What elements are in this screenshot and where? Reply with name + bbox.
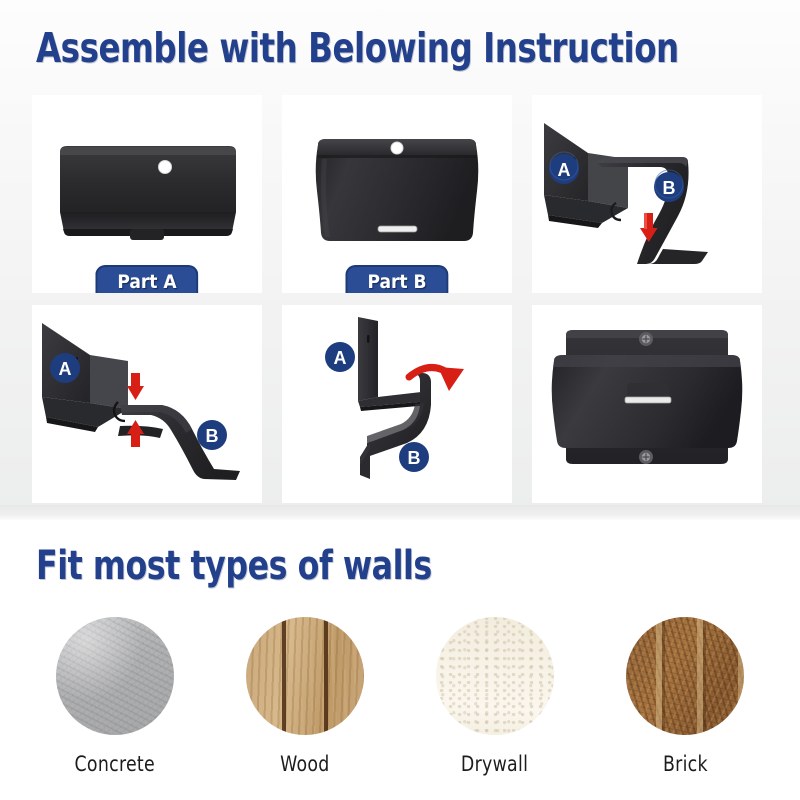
drywall-texture-swatch	[436, 617, 554, 735]
section-divider	[0, 505, 800, 521]
wall-types-section: Fit most types of walls Concrete Wood Dr…	[0, 521, 800, 800]
wall-type-label: Wood	[280, 752, 329, 776]
svg-text:B: B	[206, 426, 219, 446]
part-a-badge: Part A	[95, 265, 198, 293]
svg-text:A: A	[558, 160, 571, 180]
assembly-panel-step-3: A B	[532, 95, 762, 293]
wall-type-brick: Brick	[590, 617, 780, 776]
wall-type-label: Concrete	[75, 752, 155, 776]
step-6-illustration	[532, 305, 762, 503]
svg-text:A: A	[59, 359, 72, 379]
red-up-arrow	[127, 420, 144, 447]
assembly-panel-step-4: A B	[32, 305, 262, 503]
wood-texture-swatch	[246, 617, 364, 735]
part-b-badge: Part B	[345, 265, 448, 293]
part-a-illustration	[32, 95, 262, 293]
assembly-section-title: Assemble with Belowing Instruction	[36, 24, 679, 72]
assembly-panel-part-a: Part A	[32, 95, 262, 293]
wall-types-grid: Concrete Wood Drywall Brick	[20, 617, 780, 776]
step-4-illustration: A B	[32, 305, 262, 503]
wall-types-section-title: Fit most types of walls	[36, 543, 432, 589]
wall-type-label: Drywall	[461, 752, 528, 776]
assembly-panel-part-b: Part B	[282, 95, 512, 293]
svg-text:B: B	[408, 448, 421, 468]
step-3-illustration: A B	[532, 95, 762, 293]
brick-texture-swatch	[626, 617, 744, 735]
red-down-arrow	[127, 373, 144, 400]
wall-type-drywall: Drywall	[400, 617, 590, 776]
wall-type-label: Brick	[663, 752, 708, 776]
wall-type-wood: Wood	[210, 617, 400, 776]
concrete-texture-swatch	[56, 617, 174, 735]
assembly-panel-step-6	[532, 305, 762, 503]
assembly-instruction-section: Assemble with Belowing Instruction	[0, 0, 800, 520]
wall-type-concrete: Concrete	[20, 617, 210, 776]
assembly-panel-step-5: A B	[282, 305, 512, 503]
part-b-illustration	[282, 95, 512, 293]
red-rotate-arrow	[409, 367, 464, 391]
svg-text:A: A	[334, 348, 347, 368]
svg-text:B: B	[663, 178, 676, 198]
assembly-panel-grid: Part A	[32, 95, 768, 503]
step-5-illustration: A B	[282, 305, 512, 503]
